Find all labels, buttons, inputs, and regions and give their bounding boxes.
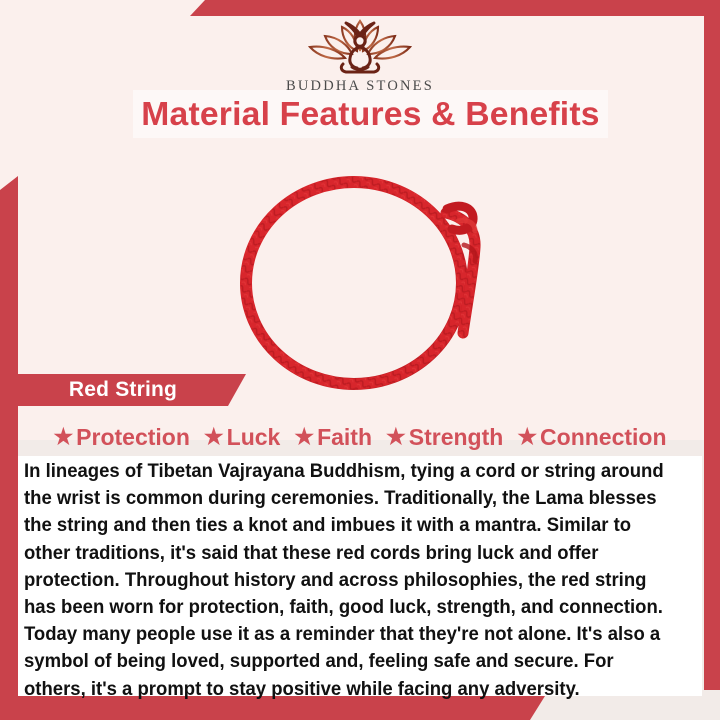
- star-icon: ★: [53, 426, 73, 448]
- frame-right-bar: [704, 0, 720, 690]
- feature-label: Strength: [409, 424, 504, 451]
- description-text: In lineages of Tibetan Vajrayana Buddhis…: [24, 458, 664, 703]
- lotus-meditation-icon: [296, 14, 424, 76]
- feature-item-protection: ★ Protection: [46, 424, 196, 451]
- product-label: Red String: [18, 374, 228, 406]
- feature-list: ★ Protection ★ Luck ★ Faith ★ Strength ★…: [18, 420, 702, 454]
- feature-item-luck: ★ Luck: [197, 424, 287, 451]
- feature-label: Protection: [76, 424, 190, 451]
- infographic-page: BUDDHA STONES Material Features & Benefi…: [0, 0, 720, 720]
- product-image-red-string-bracelet: [232, 155, 498, 395]
- feature-item-faith: ★ Faith: [287, 424, 379, 451]
- brand-logo: BUDDHA STONES: [0, 14, 720, 95]
- star-icon: ★: [386, 426, 406, 448]
- feature-label: Faith: [317, 424, 372, 451]
- star-icon: ★: [204, 426, 224, 448]
- feature-item-strength: ★ Strength: [379, 424, 510, 451]
- page-title: Material Features & Benefits: [128, 92, 613, 136]
- star-icon: ★: [517, 426, 537, 448]
- feature-label: Connection: [540, 424, 667, 451]
- feature-label: Luck: [227, 424, 281, 451]
- feature-item-connection: ★ Connection: [510, 424, 673, 451]
- star-icon: ★: [294, 426, 314, 448]
- frame-left-bar: [0, 176, 18, 720]
